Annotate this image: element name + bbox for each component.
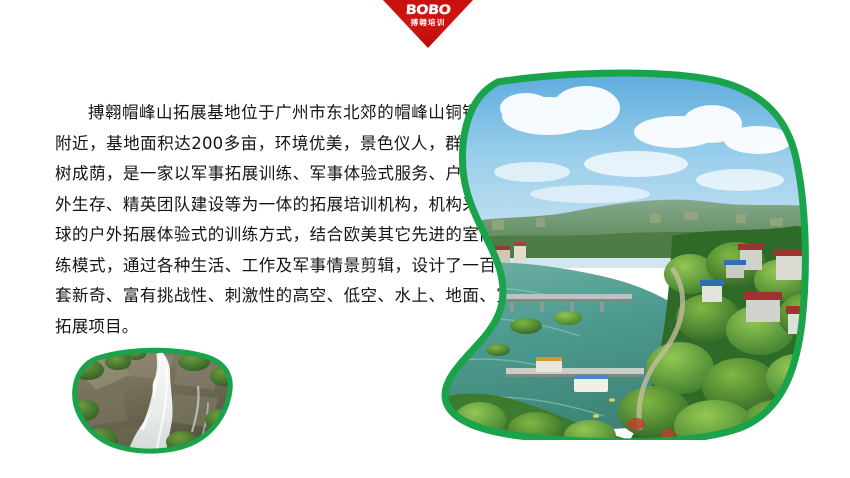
waterfall-photo bbox=[70, 346, 236, 458]
logo-wordmark: BOBO bbox=[377, 4, 479, 17]
logo-subtitle: 搏翱培训 bbox=[383, 18, 473, 27]
bobo-training-logo[interactable]: BOBO 搏翱培训 bbox=[383, 0, 473, 48]
lake-aerial-photo bbox=[440, 68, 820, 440]
slide-canvas: BOBO 搏翱培训 搏翱帽峰山拓展基地位于广州市东北郊的帽峰山铜锣湾景区的附近，… bbox=[0, 0, 850, 478]
